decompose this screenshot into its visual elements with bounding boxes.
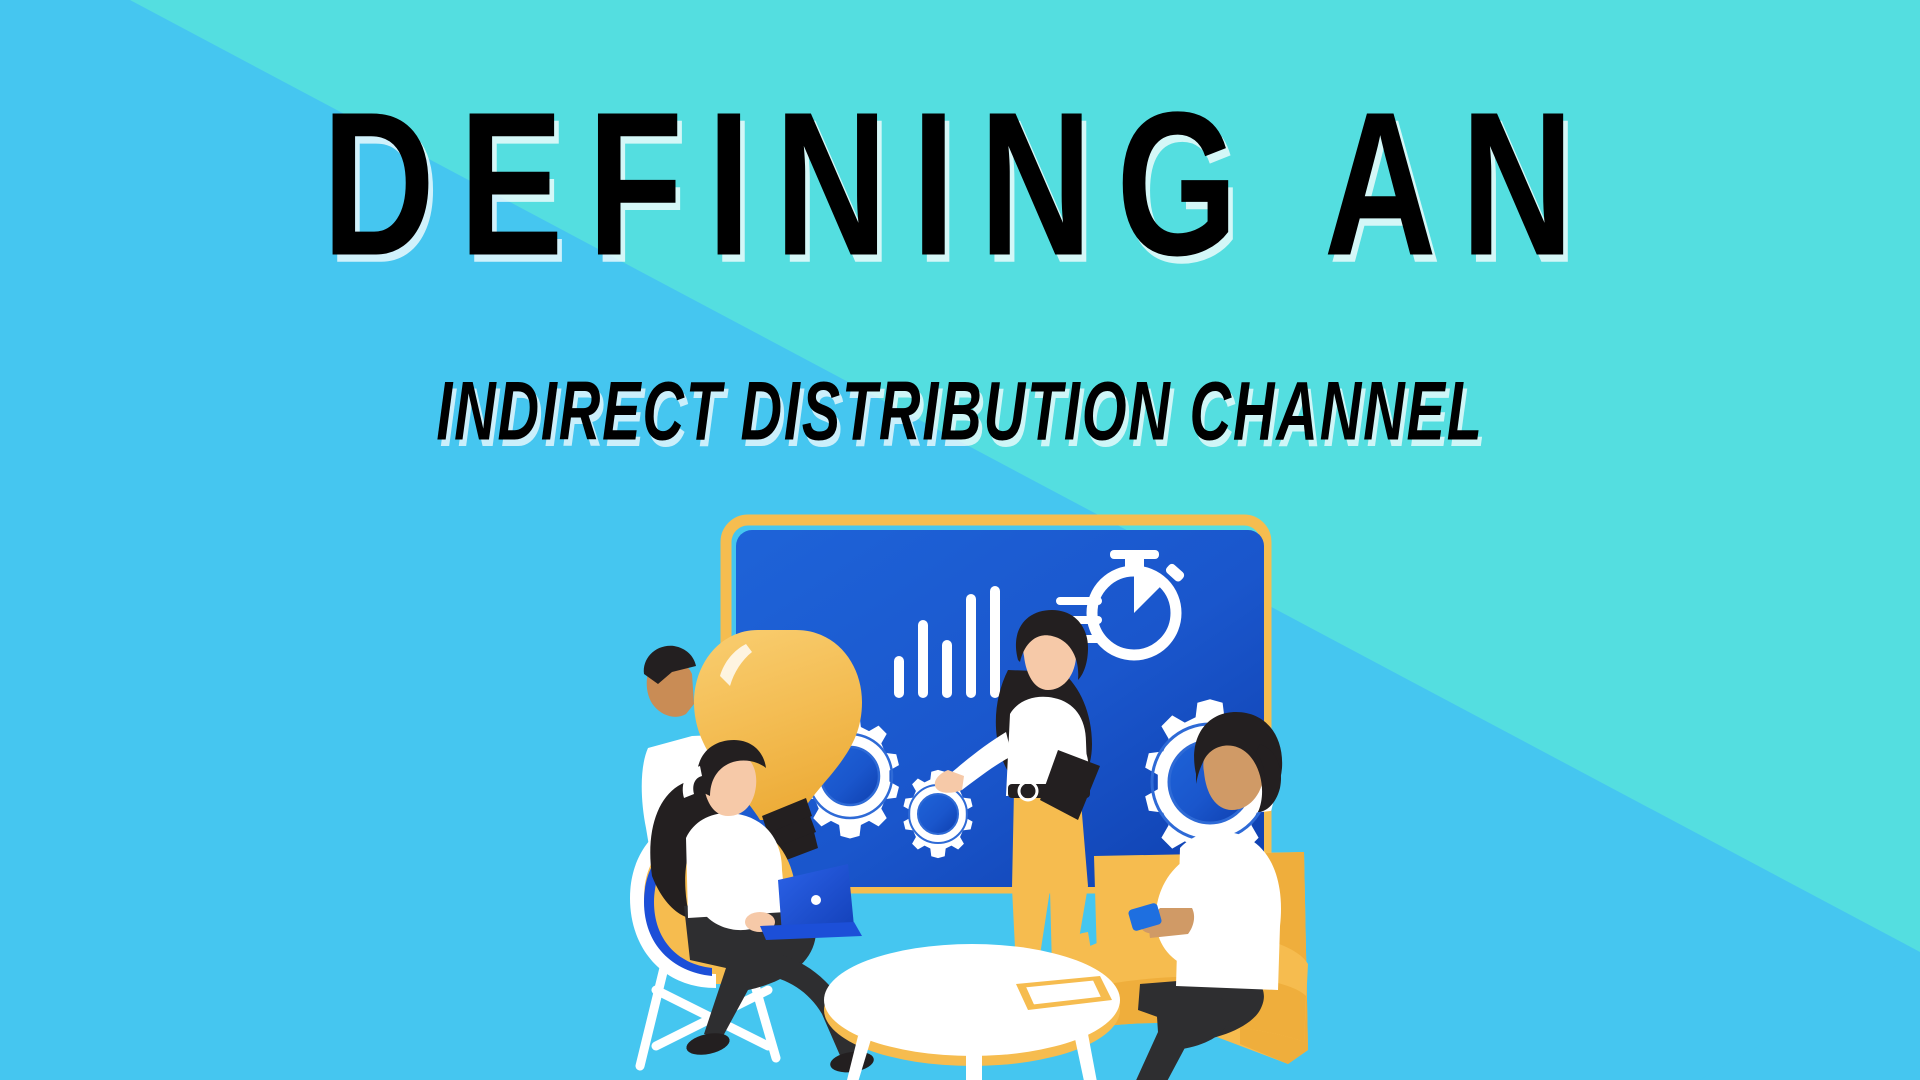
laptop-logo (811, 895, 821, 905)
team-meeting-illustration (600, 498, 1340, 1080)
